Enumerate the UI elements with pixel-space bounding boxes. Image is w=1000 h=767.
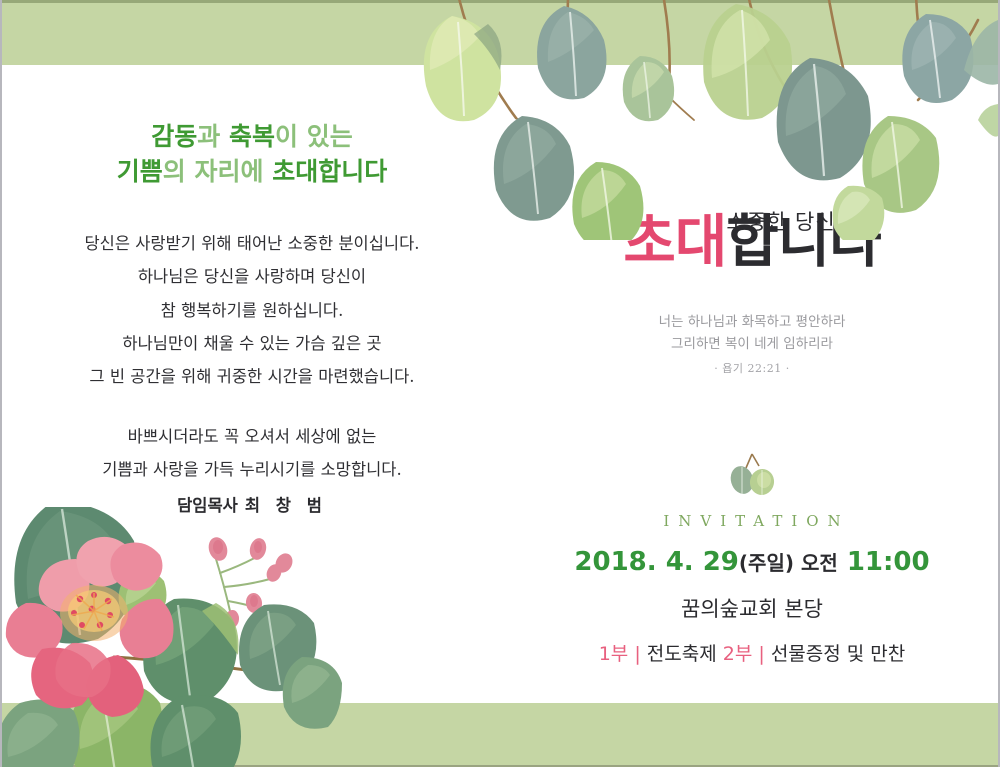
invitation-word: INVITATION [502,512,1000,530]
verse-reference: · 욥기 22:21 · [502,360,1000,378]
program-part2-text: 선물증정 및 만찬 [771,643,905,665]
event-program: 1부 | 전도축제 2부 | 선물증정 및 만찬 [502,639,1000,666]
program-part1-text: 전도축제 [647,643,717,665]
event-details: 2018. 4. 29(주일) 오전 11:00 꿈의숲교회 본당 1부 | 전… [502,547,1000,666]
event-date-line: 2018. 4. 29(주일) 오전 11:00 [502,547,1000,577]
signature: 담임목사최 창 범 [2,492,502,516]
program-part2-label: 2부 | [723,643,765,665]
event-date: 2018. 4. 29 [574,547,739,577]
body-line: 하나님은 당신을 사랑하며 당신이 [138,267,366,286]
event-weekday: (주일) 오전 [739,551,838,575]
verse-line-1: 너는 하나님과 화목하고 평안하라 [659,314,846,330]
headline-word-joy: 기쁨 [117,157,163,186]
title-small-line: 소중한 당신을 [726,206,856,236]
body-line: 바쁘시더라도 꼭 오셔서 세상에 없는 [128,427,377,446]
headline-word-impression: 감동 [151,122,197,151]
eucalyptus-sprig-icon [502,452,1000,510]
headline-text-2b: 의 자리에 [163,157,272,186]
body-line: 기쁨과 사랑을 가득 누리시기를 소망합니다. [102,460,401,479]
headline-word-invite: 초대합니다 [272,157,387,186]
headline-word-blessing: 축복 [229,122,275,151]
headline-text-1b: 과 [197,122,229,151]
title-word-invite: 초대 [623,208,726,275]
signature-role: 담임목사 [177,496,238,515]
event-venue: 꿈의숲교회 본당 [502,593,1000,623]
body-line: 참 행복하기를 원하십니다. [161,301,344,320]
headline-text-1d: 이 있는 [275,122,353,151]
body-line: 하나님만이 채울 수 있는 가슴 깊은 곳 [122,334,381,353]
bottom-green-band [2,703,1000,767]
body-text: 당신은 사랑받기 위해 태어난 소중한 분이십니다. 하나님은 당신을 사랑하며… [2,227,502,486]
invitation-card: 감동과 축복이 있는 기쁨의 자리에 초대합니다 당신은 사랑받기 위해 태어난… [0,0,1000,767]
invitation-title: 소중한 당신을 초대합니다 [502,212,1000,272]
bible-verse: 너는 하나님과 화목하고 평안하라 그리하면 복이 네게 임하리라 · 욥기 2… [502,312,1000,378]
body-line: 그 빈 공간을 위해 귀중한 시간을 마련했습니다. [89,367,414,386]
event-time: 11:00 [847,547,930,577]
program-part1-label: 1부 | [599,643,641,665]
signature-name: 최 창 범 [245,496,327,515]
verse-line-2: 그리하면 복이 네게 임하리라 [671,336,833,352]
body-line: 당신은 사랑받기 위해 태어난 소중한 분이십니다. [84,234,419,253]
left-headline: 감동과 축복이 있는 기쁨의 자리에 초대합니다 [2,120,502,189]
body-paragraph-2: 바쁘시더라도 꼭 오셔서 세상에 없는 기쁨과 사랑을 가득 누리시기를 소망합… [2,420,502,487]
right-panel: 소중한 당신을 초대합니다 너는 하나님과 화목하고 평안하라 그리하면 복이 … [502,62,1000,703]
left-panel: 감동과 축복이 있는 기쁨의 자리에 초대합니다 당신은 사랑받기 위해 태어난… [2,62,502,703]
top-green-band [2,0,1000,65]
